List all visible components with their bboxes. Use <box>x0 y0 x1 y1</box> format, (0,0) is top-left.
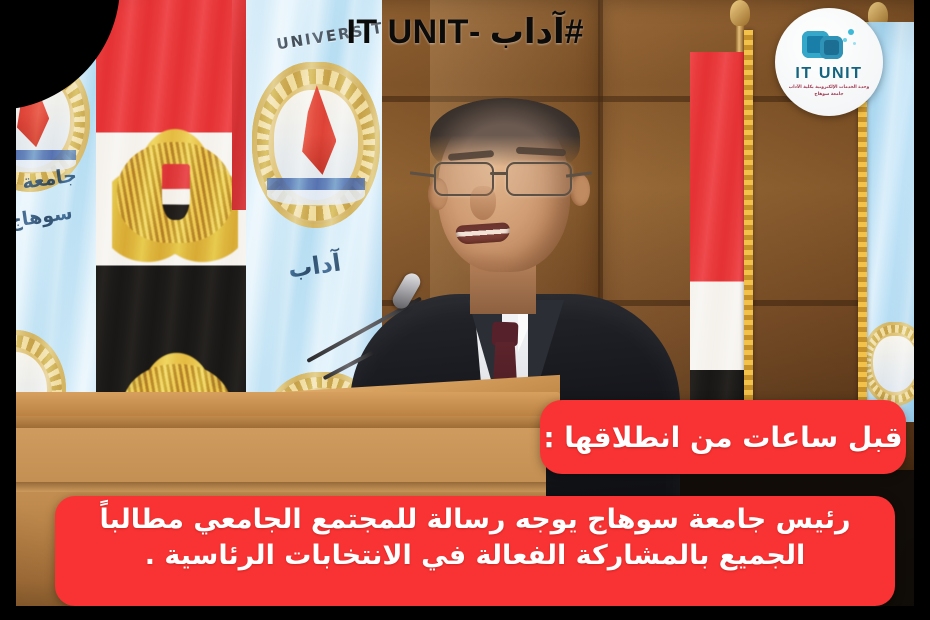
it-unit-network-logo-icon <box>802 29 856 63</box>
flag-ripple <box>96 0 246 402</box>
kicker-banner: قبل ساعات من انطلاقها : <box>540 400 906 474</box>
logo-square-inner <box>820 36 843 59</box>
logo-dot <box>848 29 854 35</box>
kicker-text: قبل ساعات من انطلاقها : <box>543 421 902 454</box>
frame-edge-bottom <box>0 606 930 620</box>
logo-dot <box>843 38 847 42</box>
news-card: جامعة سوهاج <box>0 0 930 620</box>
frame-edge-right <box>914 0 930 620</box>
egypt-flag-left <box>96 0 246 402</box>
flag-fringe <box>744 30 753 420</box>
egypt-flag-right <box>690 52 750 422</box>
eyeglasses <box>432 160 580 194</box>
it-unit-badge: IT UNIT وحدة الخدمات الإلكترونية بكلية ا… <box>775 8 883 116</box>
headline-text: رئيس جامعة سوهاج يوجه رسالة للمجتمع الجا… <box>73 502 877 574</box>
podium-bevel <box>0 482 546 492</box>
lens-right <box>506 162 572 196</box>
frame-edge-left <box>0 0 16 620</box>
badge-subtitle: وحدة الخدمات الإلكترونية بكلية الآداب جا… <box>785 85 873 98</box>
badge-title: IT UNIT <box>795 65 862 83</box>
nose <box>470 186 496 220</box>
glasses-bridge <box>490 172 508 175</box>
headline-banner: رئيس جامعة سوهاج يوجه رسالة للمجتمع الجا… <box>55 496 895 606</box>
flag-ripple <box>690 52 750 422</box>
logo-dot <box>853 42 856 45</box>
podium-top <box>0 392 560 418</box>
chin <box>456 252 520 278</box>
